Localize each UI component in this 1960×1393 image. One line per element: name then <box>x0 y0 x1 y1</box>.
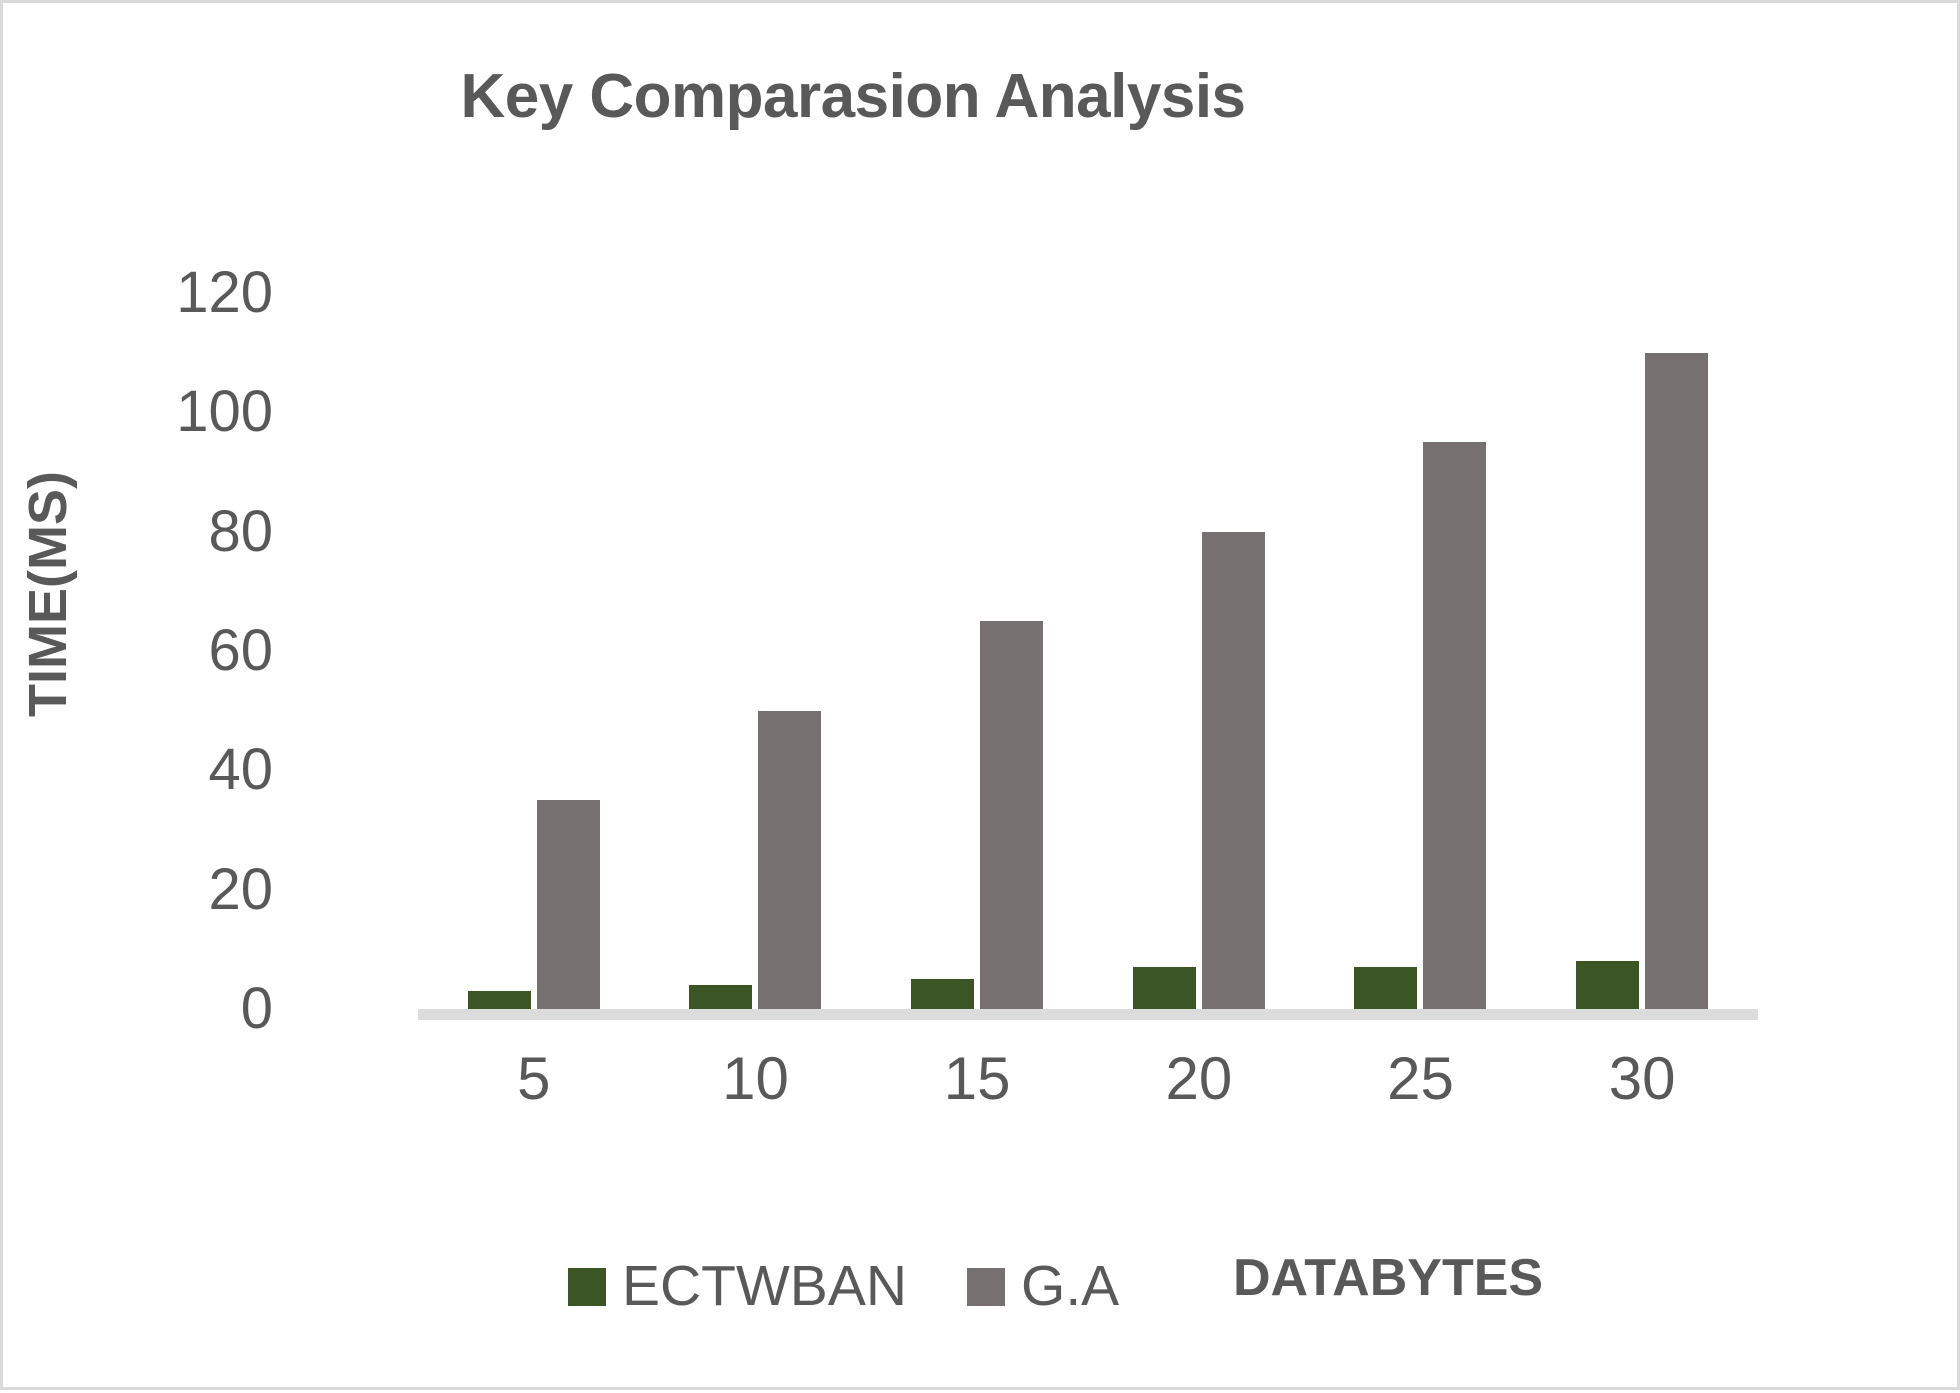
x-axis-tick-20: 20 <box>1088 1046 1310 1112</box>
bar-group-25 <box>1310 293 1532 1009</box>
legend-swatch-ga <box>967 1268 1005 1306</box>
y-axis-tick-20: 20 <box>113 861 273 919</box>
bar-GA-25[interactable] <box>1423 442 1486 1009</box>
x-axis-tick-30: 30 <box>1531 1046 1753 1112</box>
chart-frame: Key Comparasion Analysis TIME(MS) 120100… <box>0 0 1960 1390</box>
bar-GA-15[interactable] <box>980 621 1043 1009</box>
x-axis-tick-5: 5 <box>423 1046 645 1112</box>
bar-GA-10[interactable] <box>758 711 821 1009</box>
bar-chart: Key Comparasion Analysis TIME(MS) 120100… <box>3 3 1960 1393</box>
bar-ECTWBAN-5[interactable] <box>468 991 531 1009</box>
legend-swatch-ectwban <box>568 1268 606 1306</box>
chart-title: Key Comparasion Analysis <box>3 61 1703 132</box>
plot-area <box>423 293 1753 1009</box>
x-axis-tick-15: 15 <box>866 1046 1088 1112</box>
legend-item-GA[interactable]: G.A <box>967 1258 1119 1315</box>
bar-GA-30[interactable] <box>1645 353 1708 1009</box>
legend-label-GA: G.A <box>1021 1258 1119 1315</box>
bar-group-10 <box>645 293 867 1009</box>
bar-GA-20[interactable] <box>1202 532 1265 1009</box>
y-axis-tick-40: 40 <box>113 741 273 799</box>
legend-item-ECTWBAN[interactable]: ECTWBAN <box>568 1258 907 1315</box>
y-axis-tick-60: 60 <box>113 622 273 680</box>
legend-label-ECTWBAN: ECTWBAN <box>622 1258 907 1315</box>
bar-ECTWBAN-25[interactable] <box>1354 967 1417 1009</box>
x-axis-tick-10: 10 <box>645 1046 867 1112</box>
y-axis-tick-0: 0 <box>113 980 273 1038</box>
bar-ECTWBAN-15[interactable] <box>911 979 974 1009</box>
chart-legend: ECTWBANG.A <box>568 1258 1119 1315</box>
bar-group-5 <box>423 293 645 1009</box>
bar-ECTWBAN-10[interactable] <box>689 985 752 1009</box>
bar-GA-5[interactable] <box>537 800 600 1009</box>
x-axis-tick-25: 25 <box>1310 1046 1532 1112</box>
bar-group-30 <box>1531 293 1753 1009</box>
y-axis-tick-120: 120 <box>113 264 273 322</box>
x-axis-title: DATABYTES <box>1233 1248 1543 1308</box>
y-axis-tick-80: 80 <box>113 503 273 561</box>
bar-ECTWBAN-20[interactable] <box>1133 967 1196 1009</box>
x-axis-line <box>418 1009 1758 1020</box>
y-axis-tick-100: 100 <box>113 383 273 441</box>
bar-ECTWBAN-30[interactable] <box>1576 961 1639 1009</box>
bar-group-20 <box>1088 293 1310 1009</box>
y-axis-title: TIME(MS) <box>17 384 79 804</box>
bar-group-15 <box>866 293 1088 1009</box>
